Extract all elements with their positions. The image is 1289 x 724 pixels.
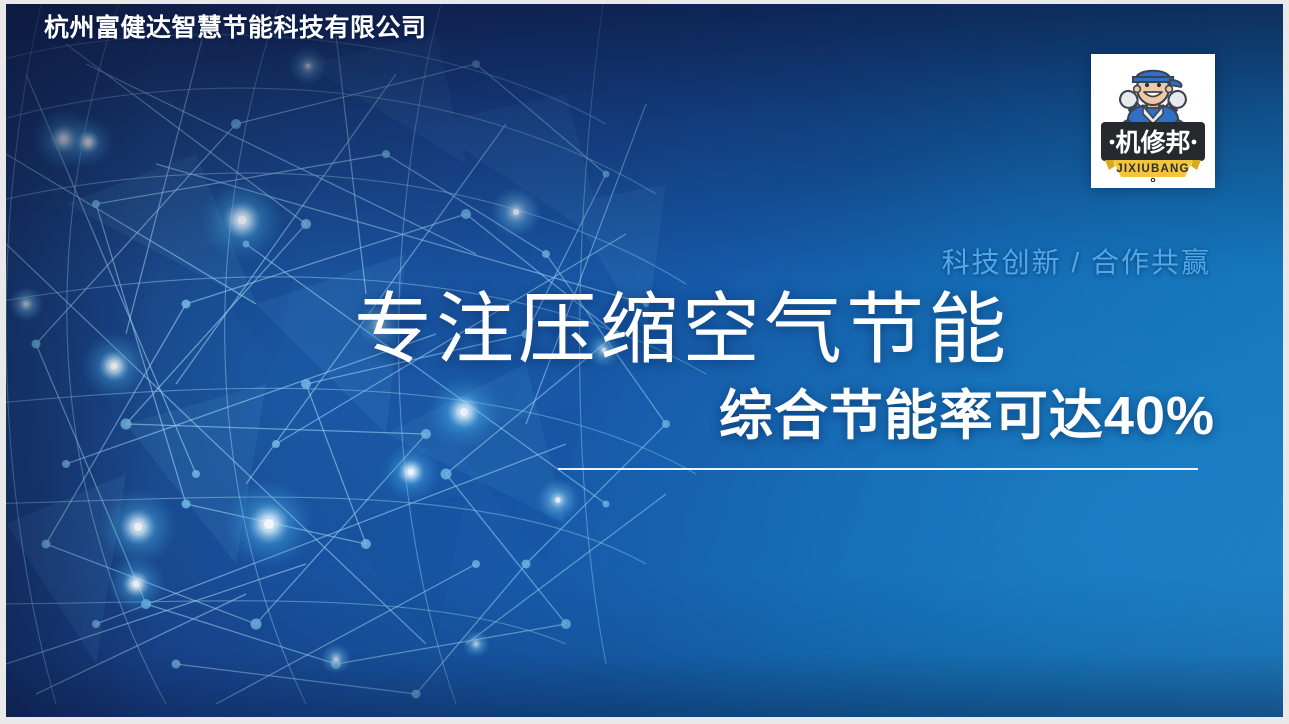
logo-brand-pinyin: JIXIUBANG xyxy=(1116,163,1189,175)
brand-logo: 机修邦 JIXIUBANG xyxy=(1091,54,1215,188)
headline: 专注压缩空气节能 xyxy=(354,288,1010,372)
company-name: 杭州富健达智慧节能科技有限公司 xyxy=(44,13,427,43)
screenshot-stage: 杭州富健达智慧节能科技有限公司 科技创新 / 合作共赢 专注压缩空气节能 综合节… xyxy=(0,0,1289,724)
promo-banner: 杭州富健达智慧节能科技有限公司 科技创新 / 合作共赢 专注压缩空气节能 综合节… xyxy=(6,4,1283,717)
tagline: 科技创新 / 合作共赢 xyxy=(942,246,1211,280)
subheadline: 综合节能率可达40% xyxy=(719,385,1215,447)
divider-rule xyxy=(558,468,1198,470)
jixiubang-logo-icon: 机修邦 JIXIUBANG xyxy=(1097,60,1209,182)
logo-brand-cn: 机修邦 xyxy=(1115,128,1190,157)
